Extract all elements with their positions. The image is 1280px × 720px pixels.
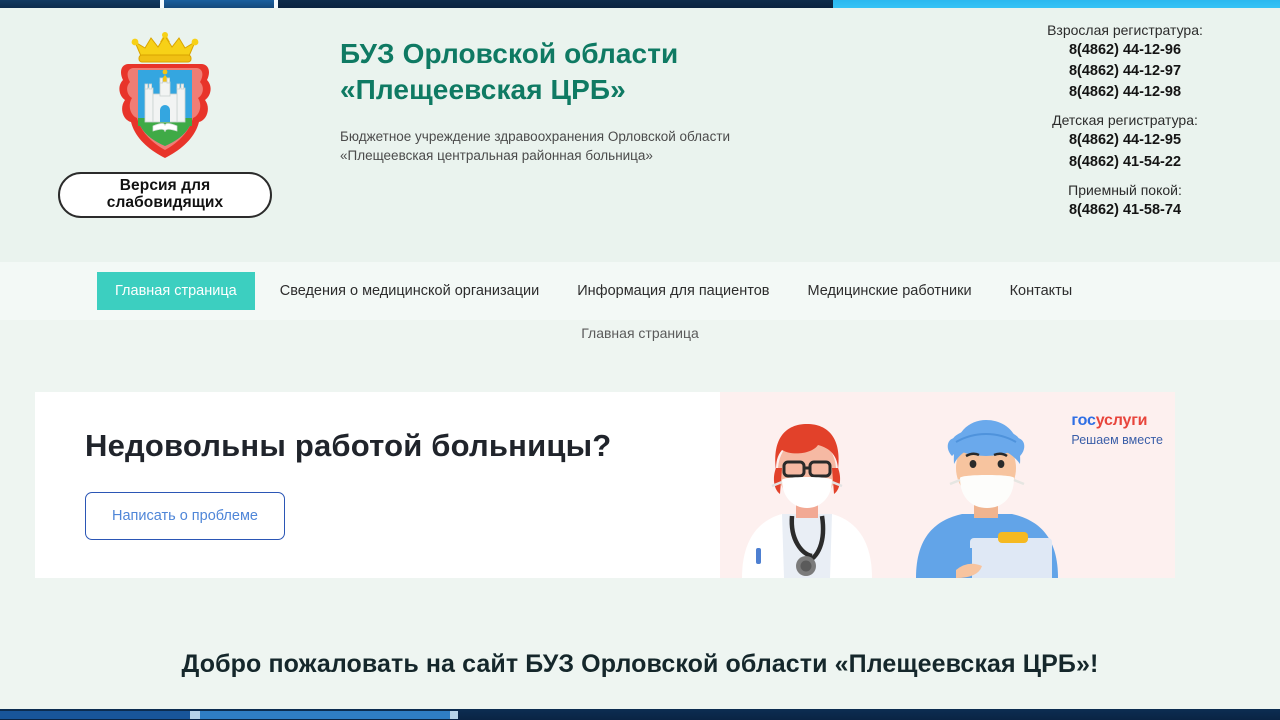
phone-number[interactable]: 8(4862) 44-12-97 bbox=[980, 61, 1270, 82]
banner-illustration-panel: госуслуги Решаем вместе bbox=[720, 392, 1175, 578]
nav-item-home[interactable]: Главная страница bbox=[97, 272, 255, 310]
banner-headline: Недовольны работой больницы? bbox=[85, 428, 720, 464]
browser-tab-strip[interactable] bbox=[0, 0, 1280, 8]
taskbar-item-1[interactable] bbox=[0, 711, 190, 719]
nav-item-medical-staff[interactable]: Медицинские работники bbox=[794, 272, 984, 310]
title-column: БУЗ Орловской области «Плещеевская ЦРБ» … bbox=[330, 8, 980, 166]
nav-item-patient-info[interactable]: Информация для пациентов bbox=[564, 272, 782, 310]
contact-group-emergency: Приемный покой: 8(4862) 41-58-74 bbox=[980, 182, 1270, 221]
phone-number[interactable]: 8(4862) 44-12-96 bbox=[980, 40, 1270, 61]
low-vision-version-button[interactable]: Версия для слабовидящих bbox=[58, 172, 272, 218]
complaint-banner: Недовольны работой больницы? Написать о … bbox=[35, 392, 1175, 578]
phone-number[interactable]: 8(4862) 44-12-95 bbox=[980, 130, 1270, 151]
contact-label: Взрослая регистратура: bbox=[980, 22, 1270, 38]
phone-number[interactable]: 8(4862) 44-12-98 bbox=[980, 82, 1270, 103]
coat-of-arms-icon bbox=[105, 30, 225, 162]
taskbar-divider bbox=[450, 711, 458, 719]
phone-number[interactable]: 8(4862) 41-54-22 bbox=[980, 152, 1270, 173]
organization-subtitle: Бюджетное учреждение здравоохранения Орл… bbox=[340, 127, 820, 166]
welcome-heading: Добро пожаловать на сайт БУЗ Орловской о… bbox=[0, 650, 1280, 679]
site-header: Версия для слабовидящих БУЗ Орловской об… bbox=[0, 8, 1280, 262]
nav-item-contacts[interactable]: Контакты bbox=[997, 272, 1086, 310]
browser-tab-1[interactable] bbox=[0, 0, 160, 8]
nav-item-about-organization[interactable]: Сведения о медицинской организации bbox=[267, 272, 553, 310]
contact-group-children: Детская регистратура: 8(4862) 44-12-95 8… bbox=[980, 112, 1270, 172]
medical-workers-illustration bbox=[720, 398, 1110, 578]
os-taskbar[interactable] bbox=[0, 709, 1280, 720]
browser-tab-active[interactable] bbox=[833, 0, 1280, 8]
browser-tab-2[interactable] bbox=[164, 0, 274, 8]
phone-number[interactable]: 8(4862) 41-58-74 bbox=[980, 200, 1270, 221]
contacts-column: Взрослая регистратура: 8(4862) 44-12-96 … bbox=[980, 8, 1280, 230]
low-vision-line1: Версия для bbox=[107, 178, 224, 195]
taskbar-item-2[interactable] bbox=[200, 711, 450, 719]
organization-title: БУЗ Орловской области «Плещеевская ЦРБ» bbox=[340, 36, 810, 109]
main-navigation: Главная страница Сведения о медицинской … bbox=[0, 262, 1280, 320]
banner-text-panel: Недовольны работой больницы? Написать о … bbox=[35, 392, 720, 578]
contact-label: Приемный покой: bbox=[980, 182, 1270, 198]
browser-tab-3[interactable] bbox=[278, 0, 833, 8]
brand-column: Версия для слабовидящих bbox=[0, 8, 330, 218]
taskbar-divider bbox=[190, 711, 200, 719]
report-problem-button[interactable]: Написать о проблеме bbox=[85, 492, 285, 540]
contact-group-adult: Взрослая регистратура: 8(4862) 44-12-96 … bbox=[980, 22, 1270, 103]
contact-label: Детская регистратура: bbox=[980, 112, 1270, 128]
breadcrumb: Главная страница bbox=[0, 325, 1280, 341]
browser-window: Версия для слабовидящих БУЗ Орловской об… bbox=[0, 0, 1280, 720]
low-vision-line2: слабовидящих bbox=[107, 195, 224, 212]
